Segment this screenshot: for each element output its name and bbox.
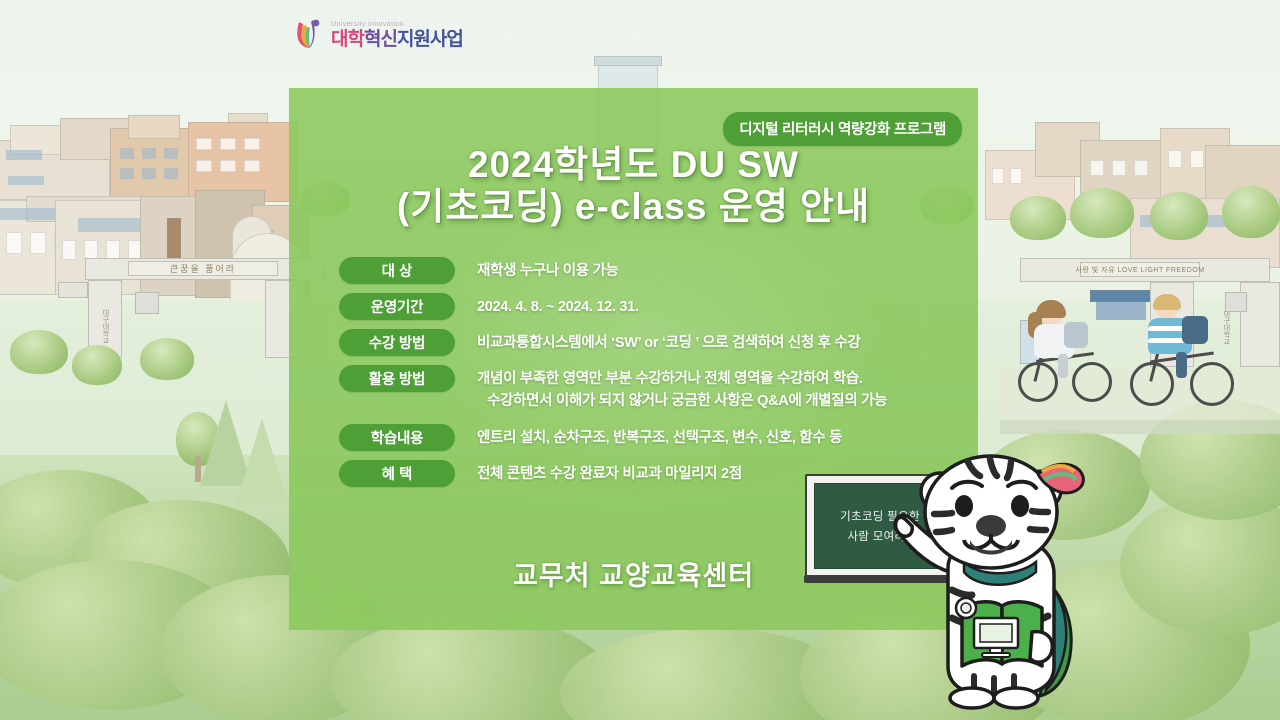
- info-value-usage-method: 개념이 부족한 영역만 부분 수강하거나 전체 영역을 수강하여 학습.수강하면…: [455, 365, 887, 413]
- poster-canvas: 큰꿈을 품어라 대구대학교 사랑 빛 자유 LOVE LIGHT FREEDOM…: [0, 0, 1280, 720]
- info-value-line: 2024. 4. 8. ~ 2024. 12. 31.: [477, 296, 639, 318]
- info-row-enrollment-method: 수강 방법비교과통합시스템에서 ‘SW’ or ‘코딩 ’ 으로 검색하여 신청…: [339, 329, 960, 356]
- info-value-period: 2024. 4. 8. ~ 2024. 12. 31.: [455, 293, 639, 318]
- info-row-target: 대 상재학생 누구나 이용 가능: [339, 257, 960, 284]
- info-label-period: 운영기간: [339, 293, 455, 320]
- info-value-line: 재학생 누구나 이용 가능: [477, 260, 619, 282]
- info-label-enrollment-method: 수강 방법: [339, 329, 455, 356]
- program-badge: 디지털 리터러시 역량강화 프로그램: [723, 112, 962, 146]
- info-label-curriculum: 학습내용: [339, 424, 455, 451]
- info-value-line: 수강하면서 이해가 되지 않거나 궁금한 사항은 Q&A에 개별질의 가능: [477, 390, 887, 412]
- logo-korean-part-3: 지원사업: [397, 29, 463, 50]
- logo-english-text: University innovation: [331, 21, 463, 28]
- info-value-line: 비교과통합시스템에서 ‘SW’ or ‘코딩 ’ 으로 검색하여 신청 후 수강: [477, 332, 860, 354]
- info-label-benefit: 혜 택: [339, 460, 455, 487]
- info-row-usage-method: 활용 방법개념이 부족한 영역만 부분 수강하거나 전체 영역을 수강하여 학습…: [339, 365, 960, 413]
- logo-korean-text: 대학혁신지원사업: [331, 30, 463, 49]
- university-innovation-logo: University innovation 대학혁신지원사업: [295, 17, 463, 53]
- gate-sign-left-text: 큰꿈을 품어라: [128, 261, 278, 276]
- info-row-curriculum: 학습내용엔트리 설치, 순차구조, 반복구조, 선택구조, 변수, 신호, 함수…: [339, 424, 960, 451]
- poster-title-line-1: 2024학년도 DU SW: [289, 144, 978, 186]
- gate-sign-right-text: 사랑 빛 자유 LOVE LIGHT FREEDOM: [1080, 262, 1200, 277]
- info-value-benefit: 전체 콘텐츠 수강 완료자 비교과 마일리지 2점: [455, 460, 742, 485]
- info-row-list: 대 상재학생 누구나 이용 가능운영기간2024. 4. 8. ~ 2024. …: [339, 257, 960, 496]
- logo-mark-icon: [295, 18, 325, 52]
- info-value-line: 엔트리 설치, 순차구조, 반복구조, 선택구조, 변수, 신호, 함수 등: [477, 427, 842, 449]
- info-value-enrollment-method: 비교과통합시스템에서 ‘SW’ or ‘코딩 ’ 으로 검색하여 신청 후 수강: [455, 329, 860, 354]
- info-label-target: 대 상: [339, 257, 455, 284]
- info-value-line: 전체 콘텐츠 수강 완료자 비교과 마일리지 2점: [477, 463, 742, 485]
- tiger-mascot: [890, 440, 1120, 710]
- poster-title: 2024학년도 DU SW (기초코딩) e-class 운영 안내: [289, 144, 978, 228]
- poster-title-line-2: (기초코딩) e-class 운영 안내: [289, 186, 978, 228]
- logo-korean-part-2: 혁신: [364, 29, 397, 50]
- info-label-usage-method: 활용 방법: [339, 365, 455, 392]
- info-value-line: 개념이 부족한 영역만 부분 수강하거나 전체 영역을 수강하여 학습.: [477, 368, 887, 390]
- info-row-period: 운영기간2024. 4. 8. ~ 2024. 12. 31.: [339, 293, 960, 320]
- logo-korean-part-1: 대학: [331, 29, 364, 50]
- info-value-curriculum: 엔트리 설치, 순차구조, 반복구조, 선택구조, 변수, 신호, 함수 등: [455, 424, 842, 449]
- info-value-target: 재학생 누구나 이용 가능: [455, 257, 619, 282]
